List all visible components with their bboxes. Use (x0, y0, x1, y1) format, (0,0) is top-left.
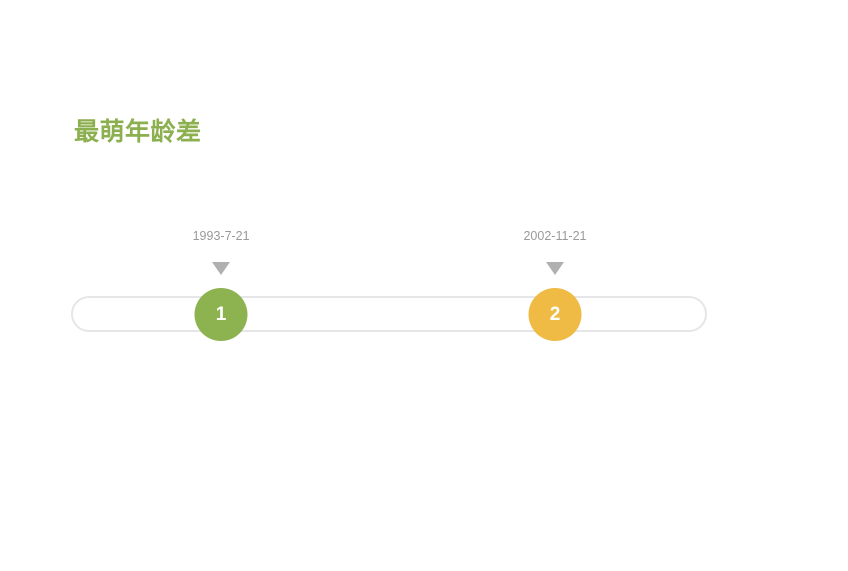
timeline-date-label: 1993-7-21 (193, 228, 250, 244)
timeline: 1993-7-21 1 2002-11-21 2 (71, 228, 707, 348)
timeline-track (71, 296, 707, 332)
triangle-down-icon (546, 262, 564, 275)
timeline-marker[interactable]: 1 (195, 288, 248, 341)
timeline-marker[interactable]: 2 (528, 288, 581, 341)
timeline-widget-root: 最萌年龄差 1993-7-21 1 2002-11-21 2 (0, 0, 848, 571)
timeline-date-label: 2002-11-21 (523, 228, 586, 244)
triangle-down-icon (212, 262, 230, 275)
page-title: 最萌年龄差 (74, 116, 202, 148)
